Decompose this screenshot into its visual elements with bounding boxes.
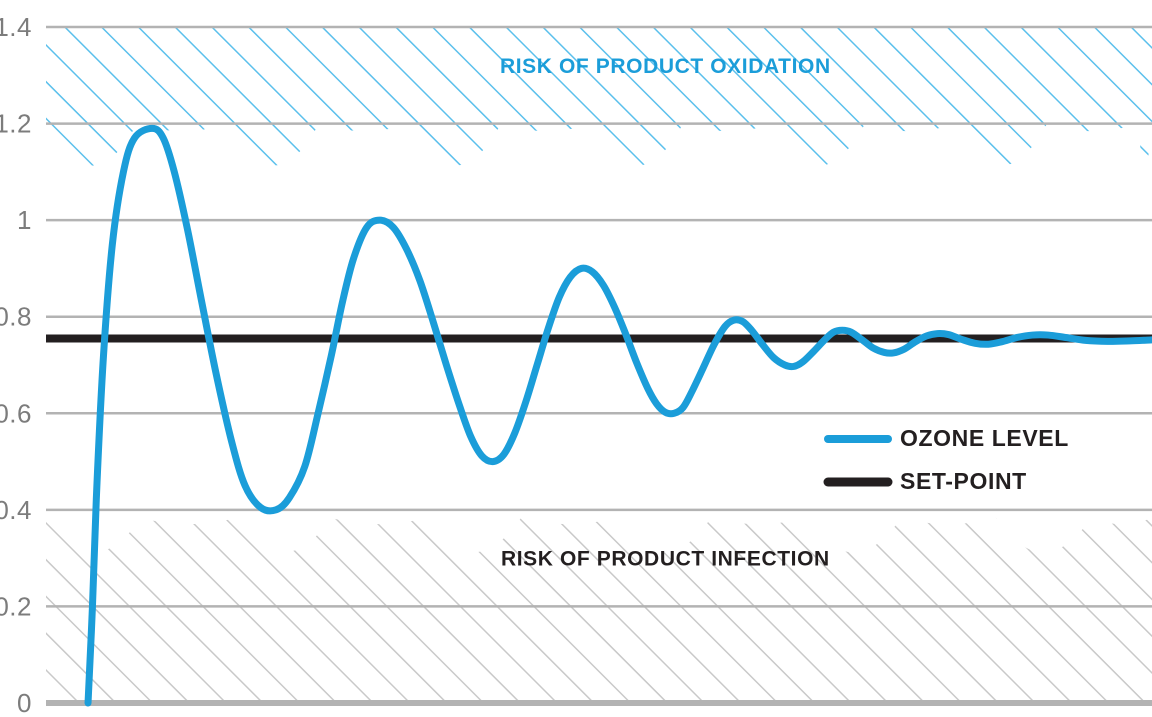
ozone-control-chart: 00.20.40.60.811.21.4 RISK OF PRODUCT OXI… [0,0,1152,717]
y-axis-tick-labels: 00.20.40.60.811.21.4 [0,12,32,717]
y-axis-tick-label: 0.2 [0,591,32,621]
y-axis-tick-label: 0.8 [0,302,32,332]
y-axis-tick-label: 1 [17,205,32,235]
chart-canvas: 00.20.40.60.811.21.4 RISK OF PRODUCT OXI… [0,0,1152,717]
legend-entry-set-point[interactable]: SET-POINT [828,468,1027,494]
y-axis-tick-label: 0 [17,688,32,717]
legend-label-set-point: SET-POINT [900,468,1027,494]
legend-label-ozone-level: OZONE LEVEL [900,425,1069,451]
y-axis-tick-label: 1.4 [0,12,32,42]
risk-band-infection-hatch [46,490,1152,717]
risk-band-oxidation-hatch [46,0,1152,200]
risk-band-infection-label: RISK OF PRODUCT INFECTION [501,547,830,570]
risk-band-oxidation [46,0,1152,200]
y-axis-tick-label: 0.6 [0,398,32,428]
risk-band-infection [46,490,1152,717]
y-axis-tick-label: 0.4 [0,495,32,525]
y-axis-tick-label: 1.2 [0,109,32,139]
chart-legend: OZONE LEVEL SET-POINT [828,425,1069,494]
legend-entry-ozone-level[interactable]: OZONE LEVEL [828,425,1069,451]
risk-band-oxidation-label: RISK OF PRODUCT OXIDATION [500,55,831,78]
